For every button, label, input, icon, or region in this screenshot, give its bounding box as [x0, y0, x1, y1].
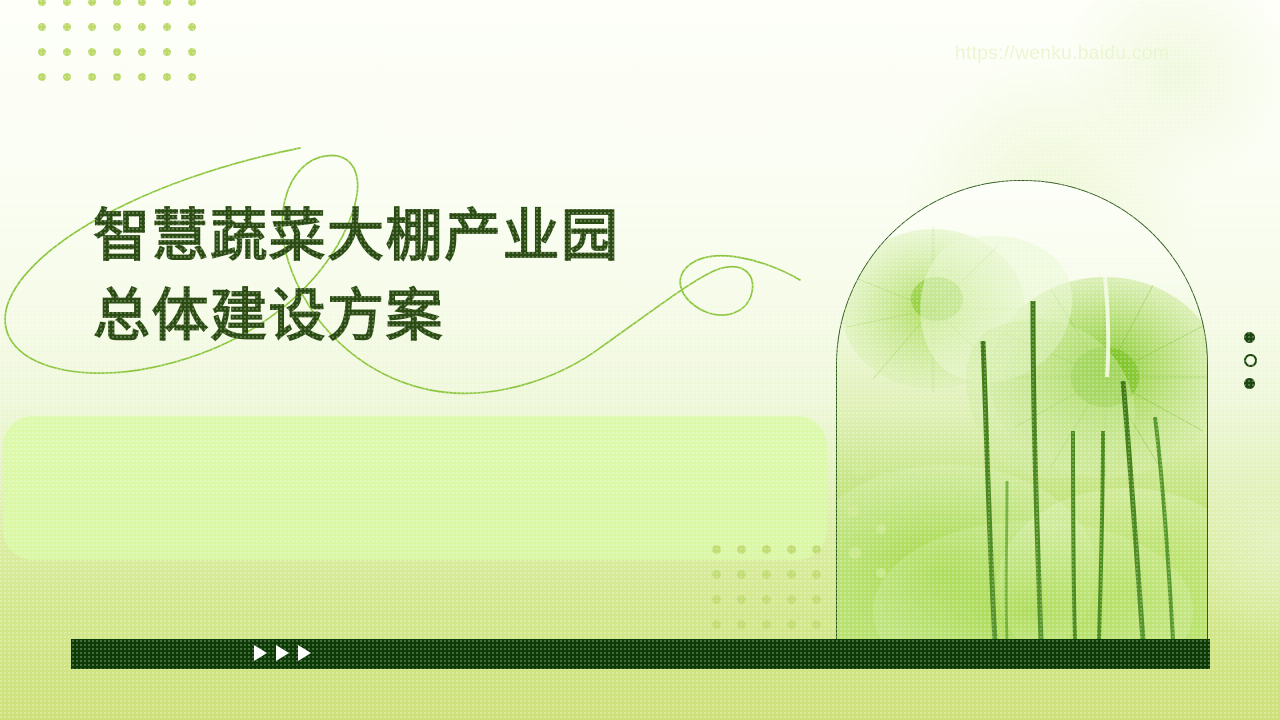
bottom-dot-grid — [712, 545, 832, 625]
bottom-grid-dot — [712, 570, 721, 579]
arch-image-panel — [836, 180, 1208, 641]
bottom-grid-dot — [737, 620, 746, 629]
bottom-grid-dot — [812, 570, 821, 579]
top-left-grid-dot — [113, 48, 121, 56]
bottom-grid-dot — [762, 595, 771, 604]
top-left-grid-dot — [163, 73, 171, 81]
top-left-grid-dot — [113, 23, 121, 31]
bottom-grid-dot — [737, 595, 746, 604]
page-indicator-group[interactable] — [1244, 332, 1257, 400]
presentation-slide: https://wenku.baidu.com 智慧蔬菜大棚产业园 总体建设方案 — [0, 0, 1280, 720]
top-left-grid-dot — [63, 73, 71, 81]
top-left-grid-dot — [88, 48, 96, 56]
bottom-grid-dot — [762, 570, 771, 579]
bottom-grid-dot — [787, 595, 796, 604]
page-indicator-2[interactable] — [1244, 354, 1257, 367]
top-left-grid-dot — [163, 23, 171, 31]
bottom-grid-dot — [712, 545, 721, 554]
top-left-grid-dot — [88, 23, 96, 31]
lotus-leaves-illustration — [837, 181, 1207, 640]
bottom-grid-dot — [812, 545, 821, 554]
top-left-grid-dot — [163, 48, 171, 56]
top-left-grid-dot — [88, 0, 96, 6]
top-left-grid-dot — [188, 23, 196, 31]
top-left-grid-dot — [38, 48, 46, 56]
play-arrow-icon-3 — [298, 645, 311, 661]
top-left-grid-dot — [63, 0, 71, 6]
top-left-grid-dot — [163, 0, 171, 6]
top-left-grid-dot — [38, 0, 46, 6]
bottom-grid-dot — [737, 545, 746, 554]
bottom-grid-dot — [712, 595, 721, 604]
top-left-grid-dot — [63, 48, 71, 56]
top-left-grid-dot — [188, 48, 196, 56]
footer-arrow-group — [254, 645, 311, 661]
bottom-grid-dot — [812, 620, 821, 629]
footer-bar — [71, 639, 1210, 669]
top-left-grid-dot — [113, 73, 121, 81]
top-left-grid-dot — [88, 73, 96, 81]
top-left-grid-dot — [138, 23, 146, 31]
bottom-grid-dot — [712, 620, 721, 629]
top-left-grid-dot — [38, 23, 46, 31]
bottom-grid-dot — [787, 620, 796, 629]
bottom-grid-dot — [737, 570, 746, 579]
top-left-dot-grid — [38, 0, 228, 83]
bottom-grid-dot — [787, 570, 796, 579]
top-left-grid-dot — [138, 73, 146, 81]
top-left-grid-dot — [138, 48, 146, 56]
top-left-grid-dot — [188, 73, 196, 81]
page-indicator-1[interactable] — [1244, 332, 1255, 343]
top-left-grid-dot — [63, 23, 71, 31]
top-left-grid-dot — [138, 0, 146, 6]
content-placeholder-panel — [3, 415, 827, 560]
watermark-url: https://wenku.baidu.com — [955, 43, 1169, 65]
play-arrow-icon-2 — [276, 645, 289, 661]
bottom-grid-dot — [762, 620, 771, 629]
bottom-grid-dot — [762, 545, 771, 554]
play-arrow-icon-1 — [254, 645, 267, 661]
top-left-grid-dot — [113, 0, 121, 6]
bottom-grid-dot — [787, 545, 796, 554]
bottom-grid-dot — [812, 595, 821, 604]
top-left-grid-dot — [188, 0, 196, 6]
top-left-grid-dot — [38, 73, 46, 81]
page-indicator-3[interactable] — [1244, 378, 1255, 389]
page-title: 智慧蔬菜大棚产业园 总体建设方案 — [93, 196, 823, 356]
